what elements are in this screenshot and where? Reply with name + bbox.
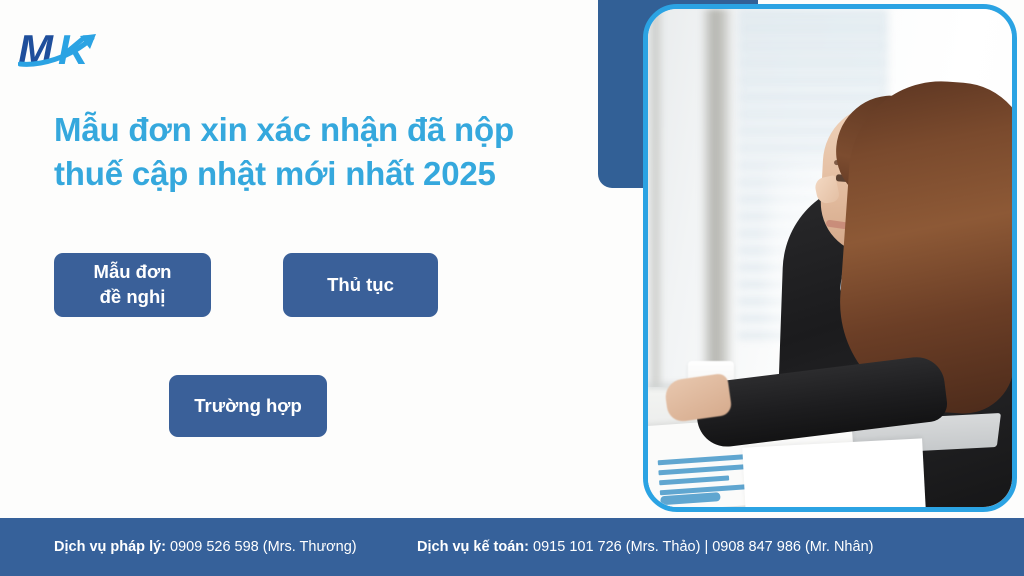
footer-contact-accounting-value: 0915 101 726 (Mrs. Thảo) | 0908 847 986 … — [533, 539, 873, 555]
page-title: Mẫu đơn xin xác nhận đã nộp thuế cập nhậ… — [54, 108, 594, 195]
footer-contact-accounting: Dịch vụ kế toán: 0915 101 726 (Mrs. Thảo… — [417, 539, 873, 555]
page-title-line-2: thuế cập nhật mới nhất 2025 — [54, 152, 594, 196]
hero-photo — [648, 9, 1012, 507]
pill-label-line-2: đề nghị — [94, 285, 172, 310]
pill-button-thu-tuc[interactable]: Thủ tục — [283, 253, 438, 317]
footer-contact-legal-value: 0909 526 598 (Mrs. Thương) — [170, 539, 357, 555]
contact-footer: Dịch vụ pháp lý: 0909 526 598 (Mrs. Thươ… — [0, 518, 1024, 576]
footer-contact-accounting-label: Dịch vụ kế toán: — [417, 539, 529, 555]
pill-button-truong-hop[interactable]: Trường hợp — [169, 375, 327, 437]
person-hand — [663, 373, 732, 423]
footer-contact-legal: Dịch vụ pháp lý: 0909 526 598 (Mrs. Thươ… — [54, 539, 357, 555]
desk-paper — [742, 438, 925, 507]
pill-label-line-1: Trường hợp — [194, 394, 302, 419]
hero-photo-frame — [643, 4, 1017, 512]
pill-label-line-1: Thủ tục — [327, 273, 394, 298]
mk-logo-icon: M K — [18, 24, 114, 74]
mk-logo[interactable]: M K — [18, 24, 114, 74]
page-title-line-1: Mẫu đơn xin xác nhận đã nộp — [54, 108, 594, 152]
slide-canvas: M K Mẫu đơn xin xác nhận đã nộp thuế cập… — [0, 0, 1024, 576]
pill-label-line-1: Mẫu đơn — [94, 260, 172, 285]
pill-button-mau-don-de-nghi[interactable]: Mẫu đơn đề nghị — [54, 253, 211, 317]
footer-contact-legal-label: Dịch vụ pháp lý: — [54, 539, 166, 555]
